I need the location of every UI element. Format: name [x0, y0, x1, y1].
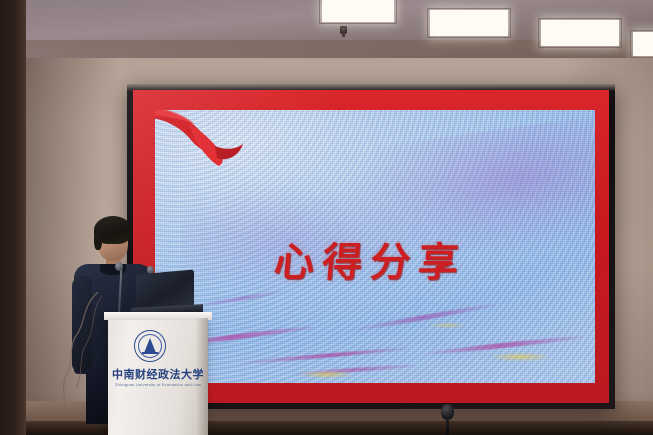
- ceiling-light-panel: [430, 10, 508, 36]
- ceiling-sprinkler-icon: [340, 26, 347, 34]
- ceiling-light-panel: [541, 20, 619, 46]
- audio-cable: [52, 292, 172, 432]
- left-wall-column: [0, 0, 26, 435]
- gold-accent-stroke: [300, 371, 353, 378]
- presenter-hair-side: [94, 230, 102, 250]
- gooseneck-microphone-icon: [115, 262, 123, 271]
- floor-microphone-stem: [446, 418, 449, 435]
- slide-content-area: 心得分享: [155, 110, 595, 383]
- ceiling-light-panel: [633, 32, 653, 56]
- slide-title: 心得分享: [155, 230, 595, 288]
- presentation-scene: 心得分享 中南财经政法大学 Zhongnan University of Eco…: [0, 0, 653, 435]
- red-silk-ribbon-icon: [155, 110, 259, 186]
- ceiling-light-panel: [322, 0, 394, 22]
